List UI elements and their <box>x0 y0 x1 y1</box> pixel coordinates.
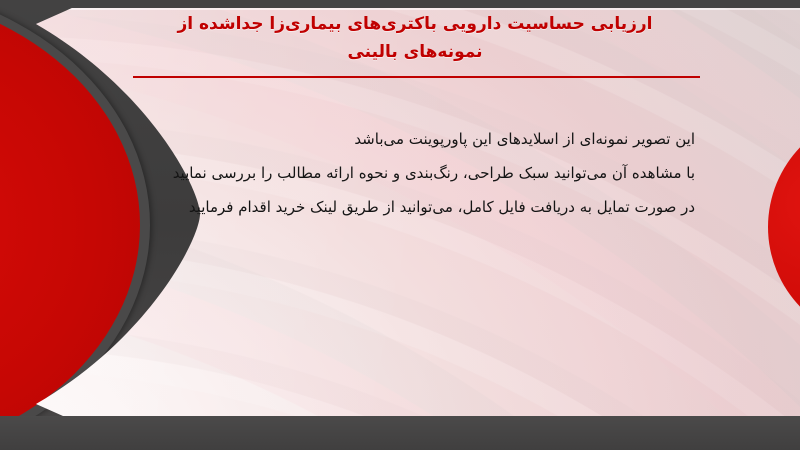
body-line-1: این تصویر نمونه‌ای از اسلایدهای این پاور… <box>95 122 695 156</box>
slide-title-line-1: ارزیابی حساسیت دارویی باکتری‌های بیماری‌… <box>120 10 710 38</box>
slide-bottom-band <box>0 416 800 450</box>
presentation-slide: ارزیابی حساسیت دارویی باکتری‌های بیماری‌… <box>0 0 800 450</box>
body-line-2: با مشاهده آن می‌توانید سبک طراحی، رنگ‌بن… <box>95 156 695 190</box>
slide-title-line-2: نمونه‌های بالینی <box>120 38 710 66</box>
title-horizontal-rule <box>133 76 700 78</box>
body-line-3: در صورت تمایل به دریافت فایل کامل، می‌تو… <box>95 190 695 224</box>
slide-title: ارزیابی حساسیت دارویی باکتری‌های بیماری‌… <box>120 10 710 66</box>
slide-body-text: این تصویر نمونه‌ای از اسلایدهای این پاور… <box>95 122 695 224</box>
